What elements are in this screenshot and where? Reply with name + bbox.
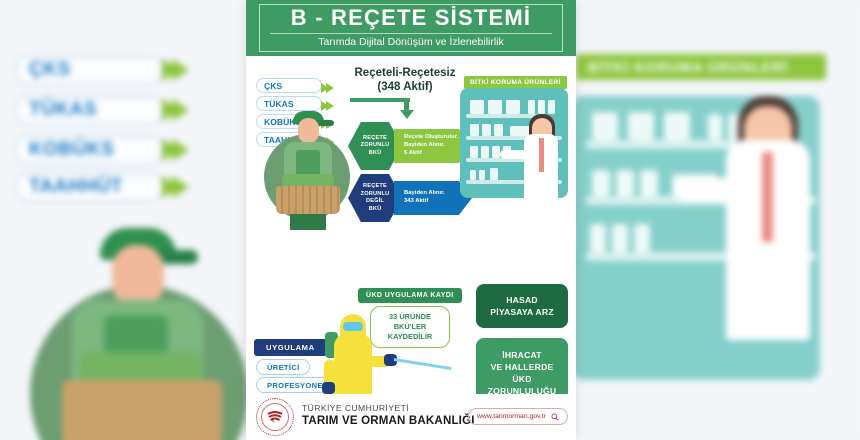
poster-footer: TÜRKİYE CUMHURİYETİ TARIM VE ORMAN BAKAN… <box>246 394 576 440</box>
background-left-blurred: ÇKS TÜKAS KOBÜKS TAAHHÜT <box>0 0 252 440</box>
poster-pill-tukas: TÜKAS <box>256 96 322 111</box>
footer-ministry-line: TARIM VE ORMAN BAKANLIĞI <box>302 415 475 427</box>
emblem-inner <box>261 403 289 431</box>
pharmacist-tie <box>539 138 544 172</box>
infographic-poster: B - REÇETE SİSTEMİ Tarımda Dijital Dönüş… <box>246 0 576 440</box>
sprayer-suit <box>334 334 372 400</box>
bg-chevron-1-icon <box>172 59 189 81</box>
bg-farmer-head <box>112 245 164 307</box>
header-divider <box>270 33 552 34</box>
poster-header: B - REÇETE SİSTEMİ Tarımda Dijital Dönüş… <box>246 0 576 56</box>
outcome1-line2: PİYASAYA ARZ <box>490 306 553 318</box>
farmer-head <box>298 118 319 143</box>
hex1-line1: REÇETE <box>363 135 387 143</box>
pharmacy-shelf-illustration <box>460 88 568 198</box>
sprayer-goggles <box>343 322 363 331</box>
poster-pill-cks: ÇKS <box>256 78 322 93</box>
ukd-record-label: ÜKD UYGULAMA KAYDI <box>358 288 462 303</box>
farmer-basket <box>276 186 340 214</box>
flow-arrow-tip-icon <box>400 110 414 119</box>
hexagon-recete-zorunlu-degil: REÇETE ZORUNLU DEĞİL BKÜ <box>348 174 402 222</box>
hex2-line1: REÇETE <box>363 183 387 191</box>
screenshot-root: ÇKS TÜKAS KOBÜKS TAAHHÜT BİTKİ KORUMA ÜR… <box>0 0 860 440</box>
prescription-heading: Reçeteli-Reçetesiz (348 Aktif) <box>346 66 464 94</box>
arrow1-line3: 5 Aktif <box>404 150 458 158</box>
hexagon-recete-zorunlu: REÇETE ZORUNLU BKÜ <box>348 122 402 170</box>
flow-arrow-stem <box>350 98 410 102</box>
outcome2-line1: İHRACAT <box>488 349 557 361</box>
hex1-line3: BKÜ <box>369 150 382 158</box>
prescription-heading-line2: (348 Aktif) <box>346 80 464 94</box>
application-pill-uretici: ÜRETİCİ <box>256 359 310 375</box>
ukd-card-line2: BKÜ'LER <box>388 322 433 332</box>
ukd-card-line3: KAYDEDİLİR <box>388 332 433 342</box>
application-label: UYGULAMA <box>254 339 327 356</box>
website-url-text: www.tarimorman.gov.tr <box>477 413 546 420</box>
footer-country-line: TÜRKİYE CUMHURİYETİ <box>302 403 409 413</box>
bg-pill-taahhut: TAAHHÜT <box>14 172 164 202</box>
arrow1-line2: Bayiden Alınır. <box>404 142 458 150</box>
poster-subtitle: Tarımda Dijital Dönüşüm ve İzlenebilirli… <box>246 36 576 48</box>
background-right-blurred: BİTKİ KORUMA ÜRÜNLERİ <box>566 0 860 440</box>
bg-chevron-2-icon <box>172 99 189 121</box>
hex2-line3: DEĞİL <box>366 198 384 206</box>
website-url-pill[interactable]: www.tarimorman.gov.tr <box>468 408 568 425</box>
bg-chevron-4-icon <box>172 176 189 198</box>
arrow2-line1: Bayiden Alınır. <box>404 190 445 198</box>
bg-pill-cks: ÇKS <box>14 55 164 85</box>
ministry-emblem-icon <box>256 398 294 436</box>
poster-body: ÇKS TÜKAS KOBÜKS TAAHHÜT Reçeteli-Reçete… <box>246 56 576 440</box>
arrow1-line1: Reçete Oluşturulur. <box>404 134 458 142</box>
outcome-card-hasad: HASAD PİYASAYA ARZ <box>476 284 568 328</box>
hex2-line4: BKÜ <box>369 206 382 214</box>
search-icon <box>551 413 559 421</box>
poster-title: B - REÇETE SİSTEMİ <box>246 5 576 31</box>
hex2-line2: ZORUNLU <box>361 191 390 199</box>
poster-chevron-2-icon <box>326 101 334 111</box>
bg-bku-bar-label: BİTKİ KORUMA ÜRÜNLERİ <box>588 59 788 75</box>
ukd-record-card: 33 ÜRÜNDE BKÜ'LER KAYDEDİLİR <box>370 306 450 348</box>
poster-chevron-1-icon <box>326 83 334 93</box>
bg-chevron-3-icon <box>172 139 189 161</box>
bg-pharmacist-tie <box>762 152 773 242</box>
outcome1-line1: HASAD <box>490 294 553 306</box>
hex1-line2: ZORUNLU <box>361 142 390 150</box>
arrow2-line2: 343 Aktif <box>404 198 445 206</box>
sprayer-wand <box>394 358 452 370</box>
prescription-heading-line1: Reçeteli-Reçetesiz <box>346 66 464 80</box>
outcome2-line3: ÜKD <box>488 373 557 385</box>
bg-farmer-basket <box>62 380 222 440</box>
outcome2-line2: VE HALLERDE <box>488 361 557 373</box>
ukd-card-line1: 33 ÜRÜNDE <box>388 312 433 322</box>
bg-pill-tukas: TÜKAS <box>14 95 164 125</box>
sprayer-left-glove <box>322 382 335 394</box>
bg-pill-kobuks: KOBÜKS <box>14 135 164 165</box>
